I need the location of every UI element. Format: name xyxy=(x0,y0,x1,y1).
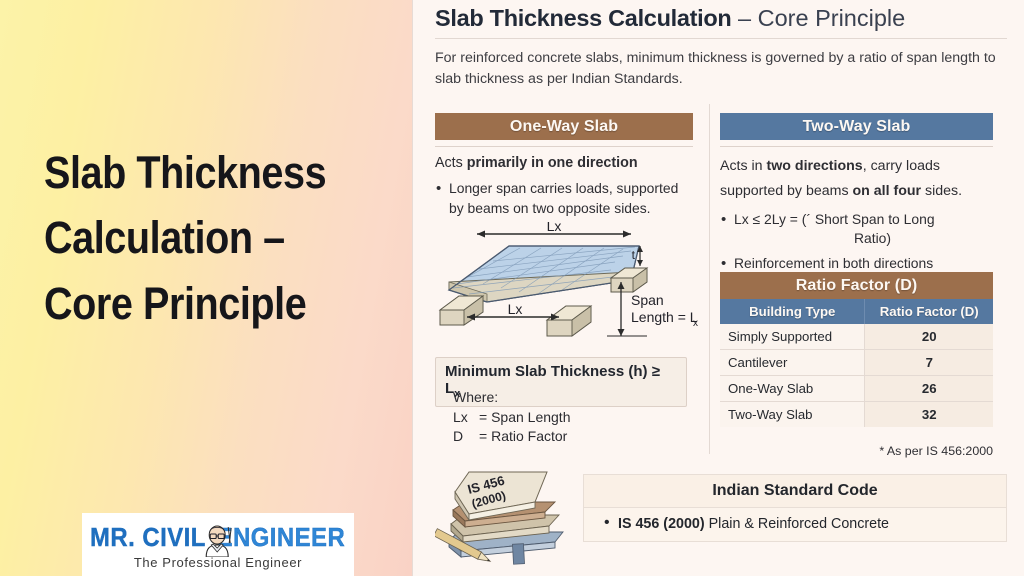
cell-ratio-factor: 26 xyxy=(865,376,993,402)
heading-divider xyxy=(435,38,1007,39)
table-row: Cantilever 7 xyxy=(720,350,993,376)
table-row: One-Way Slab 26 xyxy=(720,376,993,402)
definition-value: Ratio Factor xyxy=(491,428,567,444)
one-way-bullet-list: Longer span carries loads, supported by … xyxy=(435,179,693,218)
slide-canvas: Slab Thickness Calculation – Core Princi… xyxy=(0,0,1024,576)
code-item-bold: IS 456 (2000) xyxy=(618,516,705,532)
where-definitions: Where: Lx= Span Length D= Ratio Factor xyxy=(453,389,570,447)
two-way-divider xyxy=(720,146,993,147)
two-way-bullet-list: Lx ≤ 2Ly = (´ Short Span to LongRatio) R… xyxy=(720,210,993,274)
one-way-slab-header: One-Way Slab xyxy=(435,113,693,140)
code-item-rest: Plain & Reinforced Concrete xyxy=(705,516,889,532)
logo-word-secondary: ENGINEER xyxy=(217,522,346,553)
ratio-factor-card: Ratio Factor (D) Building Type Ratio Fac… xyxy=(720,272,993,427)
svg-text:Span: Span xyxy=(631,292,664,308)
indian-standard-code-title: Indian Standard Code xyxy=(584,475,1006,508)
indian-standard-code-item: IS 456 (2000) Plain & Reinforced Concret… xyxy=(584,508,1006,541)
one-way-lead: Acts primarily in one direction xyxy=(435,154,693,173)
one-way-divider xyxy=(435,146,693,147)
page-title: Slab Thickness Calculation – Core Princi… xyxy=(44,140,343,336)
two-way-lead-1: Acts in xyxy=(720,158,767,174)
brand-logo: MR. CIVIL ENGINEER The Professional Engi… xyxy=(82,513,354,576)
definition-key: D xyxy=(453,428,479,444)
svg-text:x: x xyxy=(693,318,698,329)
definition-row-lx: Lx= Span Length xyxy=(453,409,570,425)
definition-value: Span Length xyxy=(491,409,570,425)
two-way-lead-3: sides. xyxy=(921,183,962,199)
one-way-lead-bold: primarily in one direction xyxy=(467,155,638,171)
document-heading-bold: Slab Thickness Calculation xyxy=(435,5,731,31)
list-item: Reinforcement in both directions xyxy=(720,254,993,274)
document-heading: Slab Thickness Calculation – Core Princi… xyxy=(435,6,1008,32)
cell-building-type: Cantilever xyxy=(720,350,865,376)
two-way-bullet-1-a: Lx ≤ 2Ly = (´ Short Span to Long xyxy=(734,211,935,227)
svg-text:Lx: Lx xyxy=(547,222,562,234)
list-item: Lx ≤ 2Ly = (´ Short Span to LongRatio) xyxy=(720,210,993,249)
cell-building-type: One-Way Slab xyxy=(720,376,865,402)
cell-ratio-factor: 32 xyxy=(865,402,993,428)
one-way-slab-section: One-Way Slab Acts primarily in one direc… xyxy=(435,113,693,224)
table-row: Two-Way Slab 32 xyxy=(720,402,993,428)
cell-building-type: Simply Supported xyxy=(720,324,865,350)
svg-text:Length = L: Length = L xyxy=(631,309,698,325)
where-label: Where: xyxy=(453,389,570,405)
document-heading-normal: – Core Principle xyxy=(731,5,905,31)
definition-eq: = xyxy=(479,409,487,425)
two-way-lead-bold-1: two directions xyxy=(767,158,863,174)
two-way-bullet-1-b: Ratio) xyxy=(734,229,993,249)
indian-standard-code-card: Indian Standard Code IS 456 (2000) Plain… xyxy=(583,474,1007,542)
table-row: Simply Supported 20 xyxy=(720,324,993,350)
two-way-slab-section: Two-Way Slab Acts in two directions, car… xyxy=(720,113,993,279)
document-subtitle: For reinforced concrete slabs, minimum t… xyxy=(435,48,1010,89)
ratio-factor-caption: Ratio Factor (D) xyxy=(720,272,993,299)
page-title-line-3: Core Principle xyxy=(44,271,343,336)
column-header-building-type: Building Type xyxy=(720,299,865,324)
standards-books-icon: IS 456 (2000) xyxy=(435,458,600,570)
page-title-line-2: Calculation – xyxy=(44,205,343,270)
ratio-factor-footnote: * As per IS 456:2000 xyxy=(720,444,993,458)
definition-row-d: D= Ratio Factor xyxy=(453,428,570,444)
table-header-row: Building Type Ratio Factor (D) xyxy=(720,299,993,324)
cell-ratio-factor: 7 xyxy=(865,350,993,376)
page-title-line-1: Slab Thickness xyxy=(44,140,343,205)
one-way-lead-plain: Acts xyxy=(435,155,467,171)
two-way-lead: Acts in two directions, carry loads supp… xyxy=(720,154,993,204)
content-panel: Slab Thickness Calculation – Core Princi… xyxy=(412,0,1024,576)
logo-word-primary: MR. CIVIL xyxy=(90,522,206,553)
logo-wordmark: MR. CIVIL ENGINEER xyxy=(82,520,354,556)
two-way-slab-header: Two-Way Slab xyxy=(720,113,993,140)
cell-ratio-factor: 20 xyxy=(865,324,993,350)
svg-text:Lx: Lx xyxy=(508,301,523,317)
two-way-lead-bold-2: on all four xyxy=(853,183,922,199)
column-divider xyxy=(709,104,710,454)
definition-key: Lx xyxy=(453,409,479,425)
definition-eq: = xyxy=(479,428,487,444)
ratio-factor-table: Building Type Ratio Factor (D) Simply Su… xyxy=(720,299,993,427)
column-header-ratio-factor: Ratio Factor (D) xyxy=(865,299,993,324)
left-title-panel: Slab Thickness Calculation – Core Princi… xyxy=(0,0,412,576)
one-way-slab-diagram-icon: Lx xyxy=(435,222,703,350)
cell-building-type: Two-Way Slab xyxy=(720,402,865,428)
list-item: Longer span carries loads, supported by … xyxy=(435,179,693,218)
logo-tagline: The Professional Engineer xyxy=(134,555,302,570)
